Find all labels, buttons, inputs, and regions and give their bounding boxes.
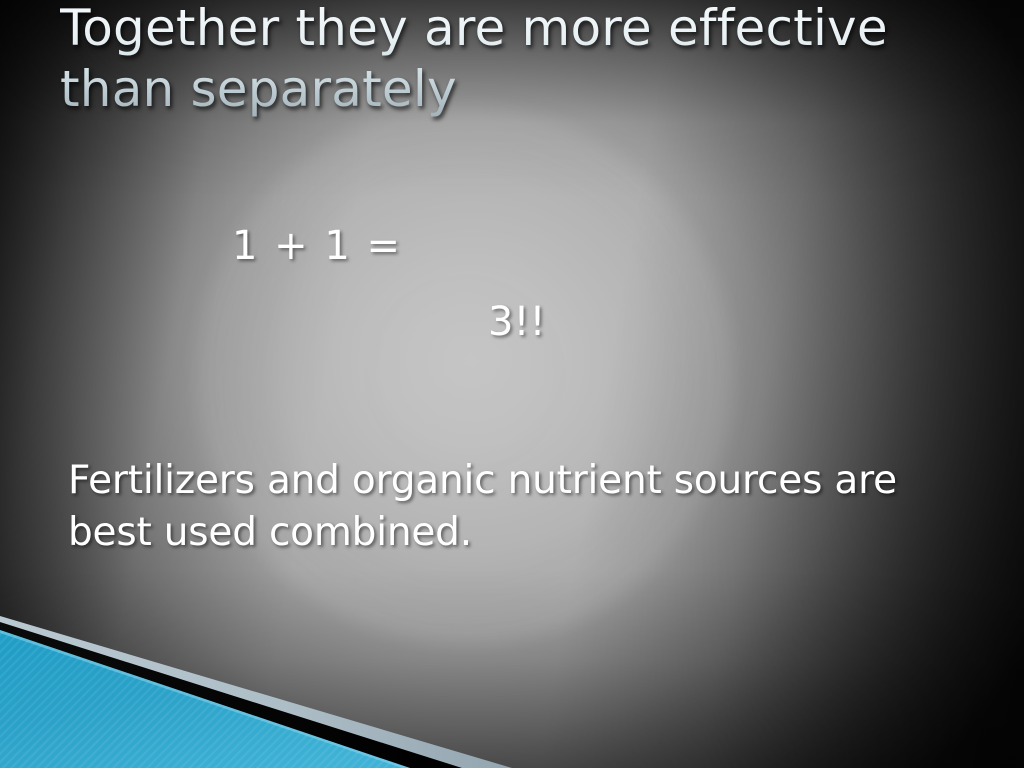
slide-body-text: Fertilizers and organic nutrient sources… bbox=[68, 455, 968, 559]
slide-title: Together they are more effective than se… bbox=[60, 0, 960, 120]
equation-left-operand: 1 + 1 = bbox=[232, 224, 402, 268]
presentation-slide: Together they are more effective than se… bbox=[0, 0, 1024, 768]
equation-result: 3!! bbox=[488, 300, 546, 344]
